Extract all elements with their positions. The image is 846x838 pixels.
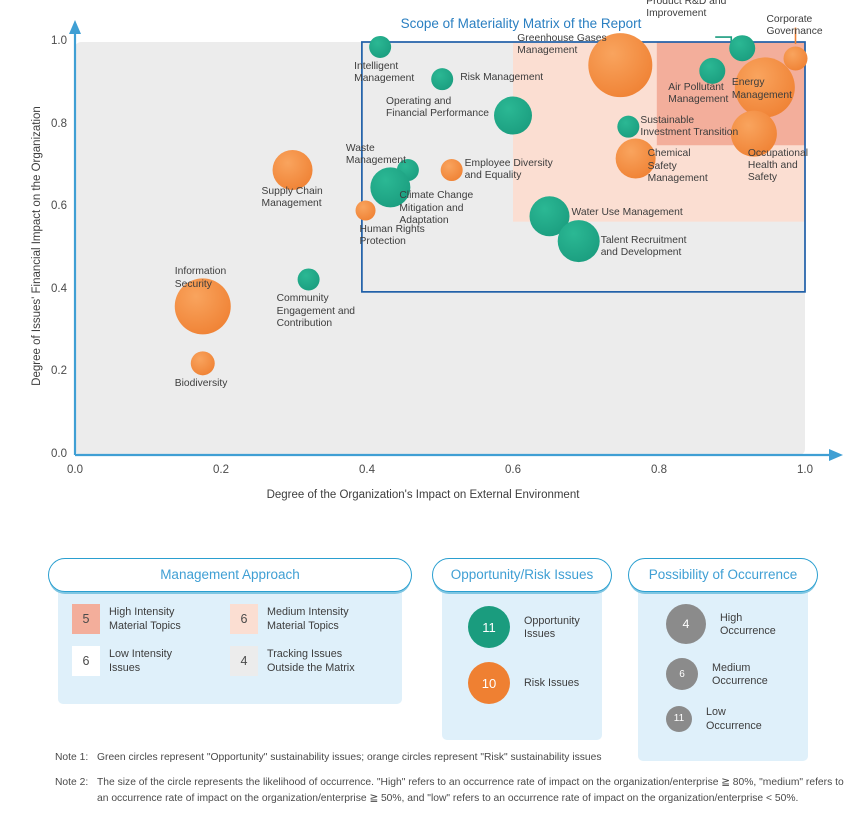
legend-item-label: Low Intensity Issues [109, 646, 172, 675]
bubble-label: Sustainable Investment Transition [640, 115, 738, 139]
bubble-label: Biodiversity [175, 378, 228, 390]
bubble-label: Supply Chain Management [262, 186, 323, 210]
y-tick-label: 0.6 [27, 200, 67, 212]
bubble-label: Human Rights Protection [360, 224, 425, 248]
chart-canvas [0, 0, 846, 520]
note-tag: Note 2: [55, 775, 97, 807]
bubble-label: Information Security [175, 266, 227, 290]
legend-opportunity-risk-circle: 11 [468, 606, 510, 648]
legend-item-management-approach: 6Medium Intensity Material Topics [230, 604, 388, 634]
bubble-opportunity-20[interactable] [298, 268, 320, 290]
bubble-risk-5[interactable] [356, 201, 376, 221]
bubble-label: Operating and Financial Performance [386, 96, 489, 120]
bubble-label: Waste Management [346, 143, 406, 167]
y-tick-label: 0.4 [27, 283, 67, 295]
legend-possibility-label: High Occurrence [720, 610, 776, 639]
legend-item-label: High Intensity Material Topics [109, 604, 181, 633]
bubble-label: Chemical Safety Management [648, 148, 708, 185]
legend-item-management-approach: 5High Intensity Material Topics [72, 604, 230, 634]
x-tick-label: 1.0 [780, 464, 830, 476]
legend-possibility-item: 4High Occurrence [666, 604, 808, 644]
legend-opportunity-risk-heading: Opportunity/Risk Issues [432, 558, 612, 592]
x-tick-label: 0.8 [634, 464, 684, 476]
bubble-risk-17[interactable] [273, 150, 313, 190]
legend-opportunity-risk-body: 11Opportunity Issues10Risk Issues [442, 580, 602, 740]
legend-management-approach: Management Approach 5High Intensity Mate… [48, 558, 412, 704]
x-tick-label: 0.0 [50, 464, 100, 476]
legend-possibility-item: 11Low Occurrence [666, 704, 808, 733]
materiality-matrix-chart: Scope of Materiality Matrix of the Repor… [0, 0, 846, 520]
legend-possibility-item: 6Medium Occurrence [666, 658, 808, 690]
y-tick-label: 0.2 [27, 365, 67, 377]
legend-possibility-label: Medium Occurrence [712, 660, 768, 689]
legend-swatch-count: 6 [230, 604, 258, 634]
bubble-risk-19[interactable] [191, 351, 215, 375]
bubble-opportunity-1[interactable] [431, 68, 453, 90]
legend-item-management-approach: 4Tracking Issues Outside the Matrix [230, 646, 388, 676]
bubble-risk-6[interactable] [441, 159, 463, 181]
y-axis-title: Degree of Issues' Financial Impact on th… [31, 36, 43, 456]
bubble-opportunity-11[interactable] [558, 220, 600, 262]
bubble-label: Risk Management [460, 72, 543, 84]
legend-possibility-of-occurrence-body: 4High Occurrence6Medium Occurrence11Low … [638, 580, 808, 761]
bubble-label: Water Use Management [572, 207, 683, 219]
legend-management-approach-heading: Management Approach [48, 558, 412, 592]
bubble-label: Community Engagement and Contribution [277, 293, 355, 330]
x-axis-title: Degree of the Organization's Impact on E… [0, 489, 846, 501]
bubble-label: Climate Change Mitigation and Adaptation [399, 190, 473, 227]
legend-opportunity-risk-item: 10Risk Issues [468, 662, 602, 704]
bubble-opportunity-0[interactable] [369, 36, 391, 58]
legend-possibility-circle: 4 [666, 604, 706, 644]
legend-possibility-of-occurrence: Possibility of Occurrence 4High Occurren… [628, 558, 818, 761]
bubble-label: Air Pollutant Management [668, 82, 728, 106]
x-tick-label: 0.6 [488, 464, 538, 476]
x-axis-arrow [829, 449, 843, 461]
y-tick-label: 0.8 [27, 118, 67, 130]
legend-opportunity-risk-item: 11Opportunity Issues [468, 606, 602, 648]
note: Note 2:The size of the circle represents… [55, 775, 845, 807]
note-body: The size of the circle represents the li… [97, 775, 845, 807]
bubble-opportunity-2[interactable] [494, 97, 532, 135]
bubble-opportunity-13[interactable] [729, 35, 755, 61]
x-tick-label: 0.4 [342, 464, 392, 476]
bubble-label: Corporate Governance [767, 14, 823, 38]
bubble-opportunity-8[interactable] [617, 116, 639, 138]
note-tag: Note 1: [55, 750, 97, 766]
legend-swatch-count: 4 [230, 646, 258, 676]
legend-possibility-label: Low Occurrence [706, 704, 762, 733]
bubble-opportunity-12[interactable] [699, 58, 725, 84]
legend-possibility-of-occurrence-heading: Possibility of Occurrence [628, 558, 818, 592]
bubble-label: Intelligent Management [354, 61, 414, 85]
bubble-label: Talent Recruitment and Development [601, 235, 687, 259]
bubble-risk-14[interactable] [784, 47, 808, 71]
legend-opportunity-risk: Opportunity/Risk Issues 11Opportunity Is… [432, 558, 612, 740]
legend-item-label: Medium Intensity Material Topics [267, 604, 349, 633]
legend-possibility-circle: 11 [666, 706, 692, 732]
x-tick-label: 0.2 [196, 464, 246, 476]
materiality-matrix-page: Scope of Materiality Matrix of the Repor… [0, 0, 846, 838]
legend-item-management-approach: 6Low Intensity Issues [72, 646, 230, 676]
legend-item-label: Tracking Issues Outside the Matrix [267, 646, 355, 675]
bubble-label: Occupational Health and Safety [748, 148, 808, 185]
y-axis-arrow [69, 20, 81, 34]
y-tick-label: 1.0 [27, 35, 67, 47]
bubble-label: Energy Management [732, 77, 792, 101]
legend-management-approach-body: 5High Intensity Material Topics6Medium I… [58, 580, 402, 704]
legend-opportunity-risk-circle: 10 [468, 662, 510, 704]
legend-possibility-circle: 6 [666, 658, 698, 690]
legend-swatch-count: 5 [72, 604, 100, 634]
legend-opportunity-risk-label: Opportunity Issues [524, 613, 580, 642]
y-tick-label: 0.0 [27, 448, 67, 460]
matrix-scope-title: Scope of Materiality Matrix of the Repor… [362, 16, 680, 31]
bubble-label: Product R&D and Improvement [646, 0, 726, 21]
legend-swatch-count: 6 [72, 646, 100, 676]
bubble-label: Employee Diversity and Equality [465, 158, 553, 182]
legend-opportunity-risk-label: Risk Issues [524, 675, 579, 691]
bubble-label: Greenhouse Gases Management [517, 33, 606, 57]
